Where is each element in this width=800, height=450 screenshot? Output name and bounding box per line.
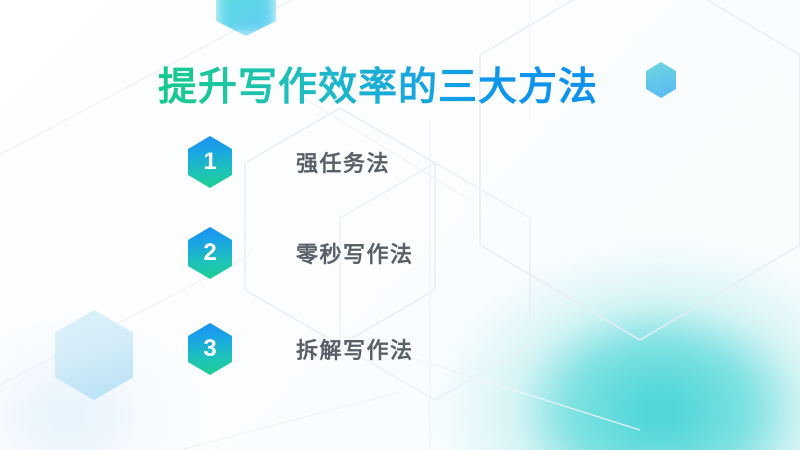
diagonal-line-bottom <box>180 392 400 450</box>
step-label: 拆解写作法 <box>296 333 414 365</box>
step-badge-1: 1 <box>188 136 232 188</box>
step-label: 强任务法 <box>296 146 390 178</box>
step-number: 3 <box>203 337 216 361</box>
step-badge-3: 3 <box>188 323 232 375</box>
step-label: 零秒写作法 <box>296 237 414 269</box>
list-item[interactable]: 1 强任务法 <box>0 136 800 192</box>
slide-canvas: 提升写作效率的三大方法 1 强任务法 2 零秒写作法 3 拆解写作法 <box>0 0 800 450</box>
step-number: 1 <box>203 150 216 174</box>
step-number: 2 <box>203 241 216 265</box>
step-badge-2: 2 <box>188 227 232 279</box>
list-item[interactable]: 3 拆解写作法 <box>0 323 800 379</box>
slide-title: 提升写作效率的三大方法 <box>158 56 598 112</box>
list-item[interactable]: 2 零秒写作法 <box>0 227 800 283</box>
